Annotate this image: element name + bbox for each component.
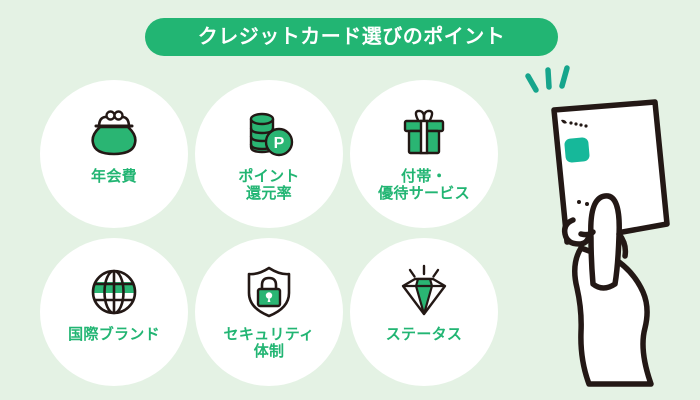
hand-holding-credit-card-illustration — [495, 52, 700, 400]
point-item-status[interactable]: ステータス — [350, 238, 498, 386]
infographic-canvas: クレジットカード選びのポイント 年会費 — [0, 0, 700, 400]
coin-stack-point-icon: P — [195, 98, 343, 170]
page-title: クレジットカード選びのポイント — [198, 27, 506, 47]
point-circle: 付帯・ 優待サービス — [350, 80, 498, 228]
point-label: 国際ブランド — [68, 326, 160, 343]
point-item-point-rate[interactable]: P ポイント 還元率 — [195, 80, 343, 228]
point-item-benefits[interactable]: 付帯・ 優待サービス — [350, 80, 498, 228]
point-circle: 国際ブランド — [40, 238, 188, 386]
point-item-security[interactable]: セキュリティ 体制 — [195, 238, 343, 386]
point-label: ポイント 還元率 — [238, 168, 299, 203]
point-item-annual-fee[interactable]: 年会費 — [40, 80, 188, 228]
coin-purse-icon — [40, 98, 188, 170]
point-circle: P ポイント 還元率 — [195, 80, 343, 228]
diamond-icon — [350, 256, 498, 328]
point-label: 付帯・ 優待サービス — [378, 168, 470, 203]
points-grid: 年会費 P — [40, 80, 520, 380]
point-item-international-brand[interactable]: 国際ブランド — [40, 238, 188, 386]
shield-lock-icon — [195, 256, 343, 328]
point-label: セキュリティ 体制 — [224, 326, 315, 361]
point-label: 年会費 — [91, 168, 137, 185]
title-banner: クレジットカード選びのポイント — [145, 18, 558, 56]
point-circle: ステータス — [350, 238, 498, 386]
point-circle: セキュリティ 体制 — [195, 238, 343, 386]
sparkle-lines — [528, 68, 567, 90]
svg-text:P: P — [274, 135, 285, 152]
point-label: ステータス — [386, 326, 463, 343]
gift-box-icon — [350, 98, 498, 170]
point-circle: 年会費 — [40, 80, 188, 228]
globe-icon — [40, 256, 188, 328]
